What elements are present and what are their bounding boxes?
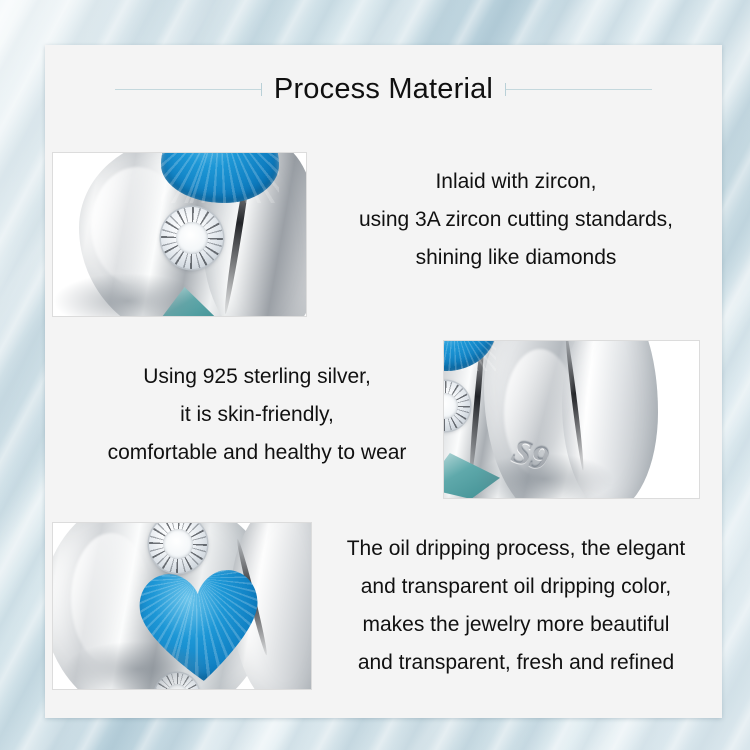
photo-soft-shadow xyxy=(474,453,614,498)
enamel-ray-texture xyxy=(161,153,279,203)
bead-blue-heart-enamel-photo xyxy=(52,522,312,690)
copy-line: shining like diamonds xyxy=(310,239,722,277)
enamel-ray-texture xyxy=(444,341,496,371)
photo-canvas-heart xyxy=(53,523,311,689)
photo-soft-shadow xyxy=(63,641,213,689)
zircon-table-facet xyxy=(176,222,208,254)
copy-block-silver: Using 925 sterling silver, it is skin-fr… xyxy=(51,358,463,472)
copy-block-oil-dripping: The oil dripping process, the elegant an… xyxy=(310,530,722,682)
blue-enamel-patch xyxy=(161,153,279,203)
infographic-page: Process Material xyxy=(0,0,750,750)
copy-line: comfortable and healthy to wear xyxy=(51,434,463,472)
copy-line: and transparent, fresh and refined xyxy=(310,644,722,682)
photo-soft-shadow xyxy=(53,273,203,316)
photo-canvas-silver: S9 xyxy=(444,341,699,498)
copy-line: The oil dripping process, the elegant xyxy=(310,530,722,568)
blue-enamel-patch xyxy=(444,341,496,371)
zircon-table-facet xyxy=(163,529,193,559)
content-card: Process Material xyxy=(45,45,722,718)
bead-with-round-zircon-photo xyxy=(52,152,307,317)
page-header: Process Material xyxy=(45,61,722,117)
copy-line: it is skin-friendly, xyxy=(51,396,463,434)
copy-line: Inlaid with zircon, xyxy=(310,163,722,201)
heading-rule-left xyxy=(115,89,262,90)
copy-line: Using 925 sterling silver, xyxy=(51,358,463,396)
zircon-stone xyxy=(161,207,223,269)
bead-s925-stamp-photo: S9 xyxy=(443,340,700,499)
copy-line: makes the jewelry more beautiful xyxy=(310,606,722,644)
heading-rule-right xyxy=(505,89,652,90)
copy-block-zircon: Inlaid with zircon, using 3A zircon cutt… xyxy=(310,163,722,277)
copy-line: using 3A zircon cutting standards, xyxy=(310,201,722,239)
page-title: Process Material xyxy=(274,75,493,104)
photo-canvas-zircon xyxy=(53,153,306,316)
copy-line: and transparent oil dripping color, xyxy=(310,568,722,606)
